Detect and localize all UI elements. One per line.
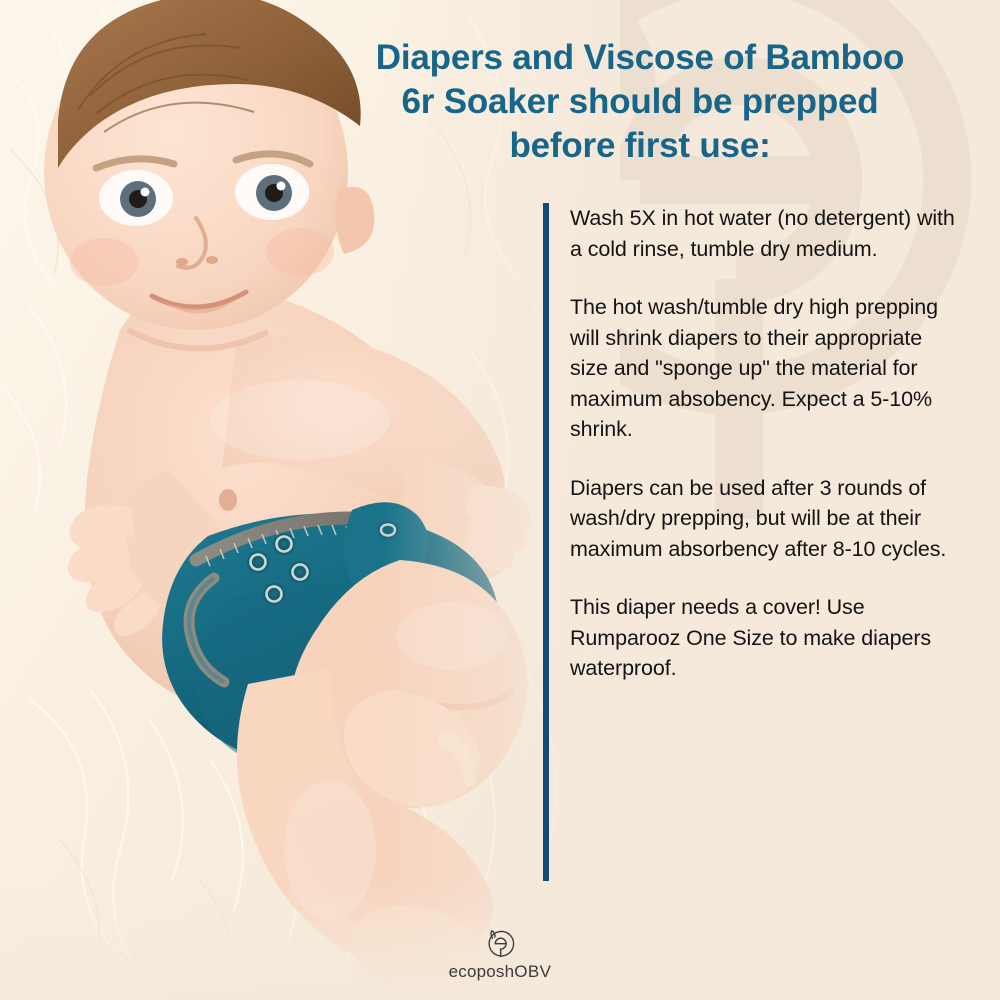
headline-line-1: Diapers and Viscose of Bamboo [300, 36, 980, 80]
vertical-divider [543, 203, 549, 881]
instruction-paragraph-2: The hot wash/tumble dry high prepping wi… [570, 292, 960, 445]
instruction-paragraph-3: Diapers can be used after 3 rounds of wa… [570, 473, 960, 565]
infographic-poster: Diapers and Viscose of Bamboo 6r Soaker … [0, 0, 1000, 1000]
brand-logo: ecoposhOBV [0, 926, 1000, 982]
instruction-paragraph-4: This diaper needs a cover! Use Rumparooz… [570, 592, 960, 684]
page-title: Diapers and Viscose of Bamboo 6r Soaker … [300, 36, 980, 168]
headline-line-2: 6r Soaker should be prepped [300, 80, 980, 124]
brand-name-primary: ecoposh [449, 962, 515, 981]
instructions-list: Wash 5X in hot water (no detergent) with… [570, 203, 960, 684]
brand-name-secondary: OBV [514, 962, 551, 981]
brand-logo-wordmark: ecoposhOBV [449, 962, 552, 982]
instruction-paragraph-1: Wash 5X in hot water (no detergent) with… [570, 203, 960, 264]
headline-line-3: before first use: [300, 124, 980, 168]
ecoposh-ep-monogram-icon [483, 926, 517, 960]
